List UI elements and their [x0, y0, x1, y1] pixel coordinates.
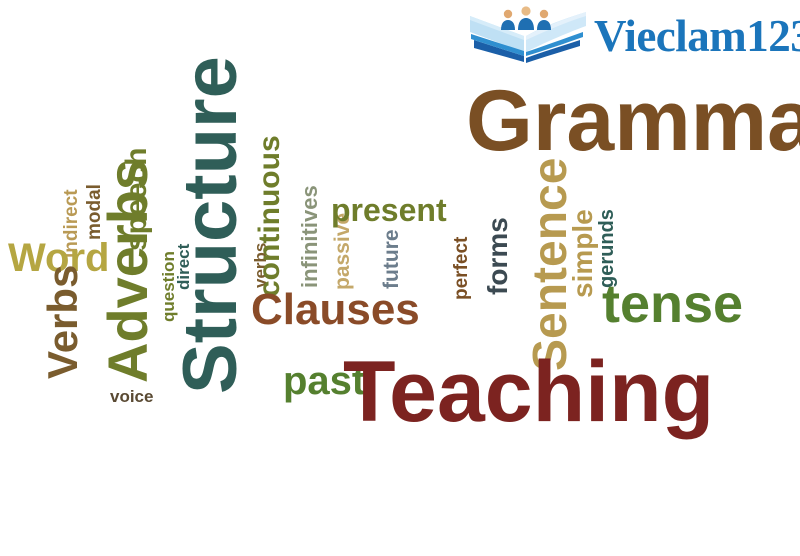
cloud-word: Adverbs: [100, 159, 156, 383]
cloud-word: tense: [602, 277, 743, 331]
cloud-word: present: [331, 194, 447, 226]
cloud-word: Teaching: [343, 349, 714, 435]
word-cloud-canvas: Vieclam123 GrammarTeachingStructureAdver…: [0, 0, 800, 556]
cloud-word: Clauses: [251, 288, 420, 332]
cloud-word: forms: [484, 217, 512, 295]
cloud-word: Grammar: [466, 78, 800, 164]
cloud-word: future: [381, 230, 402, 290]
cloud-word: continuous: [255, 135, 285, 297]
cloud-word: Structure: [173, 56, 249, 394]
cloud-word: infinitives: [299, 185, 321, 288]
word-cloud: GrammarTeachingStructureAdverbstenseSent…: [0, 0, 800, 556]
cloud-word: voice: [110, 388, 153, 405]
cloud-word: Sentence: [527, 158, 575, 371]
cloud-word: Verbs: [42, 265, 84, 379]
cloud-word: perfect: [452, 237, 471, 300]
